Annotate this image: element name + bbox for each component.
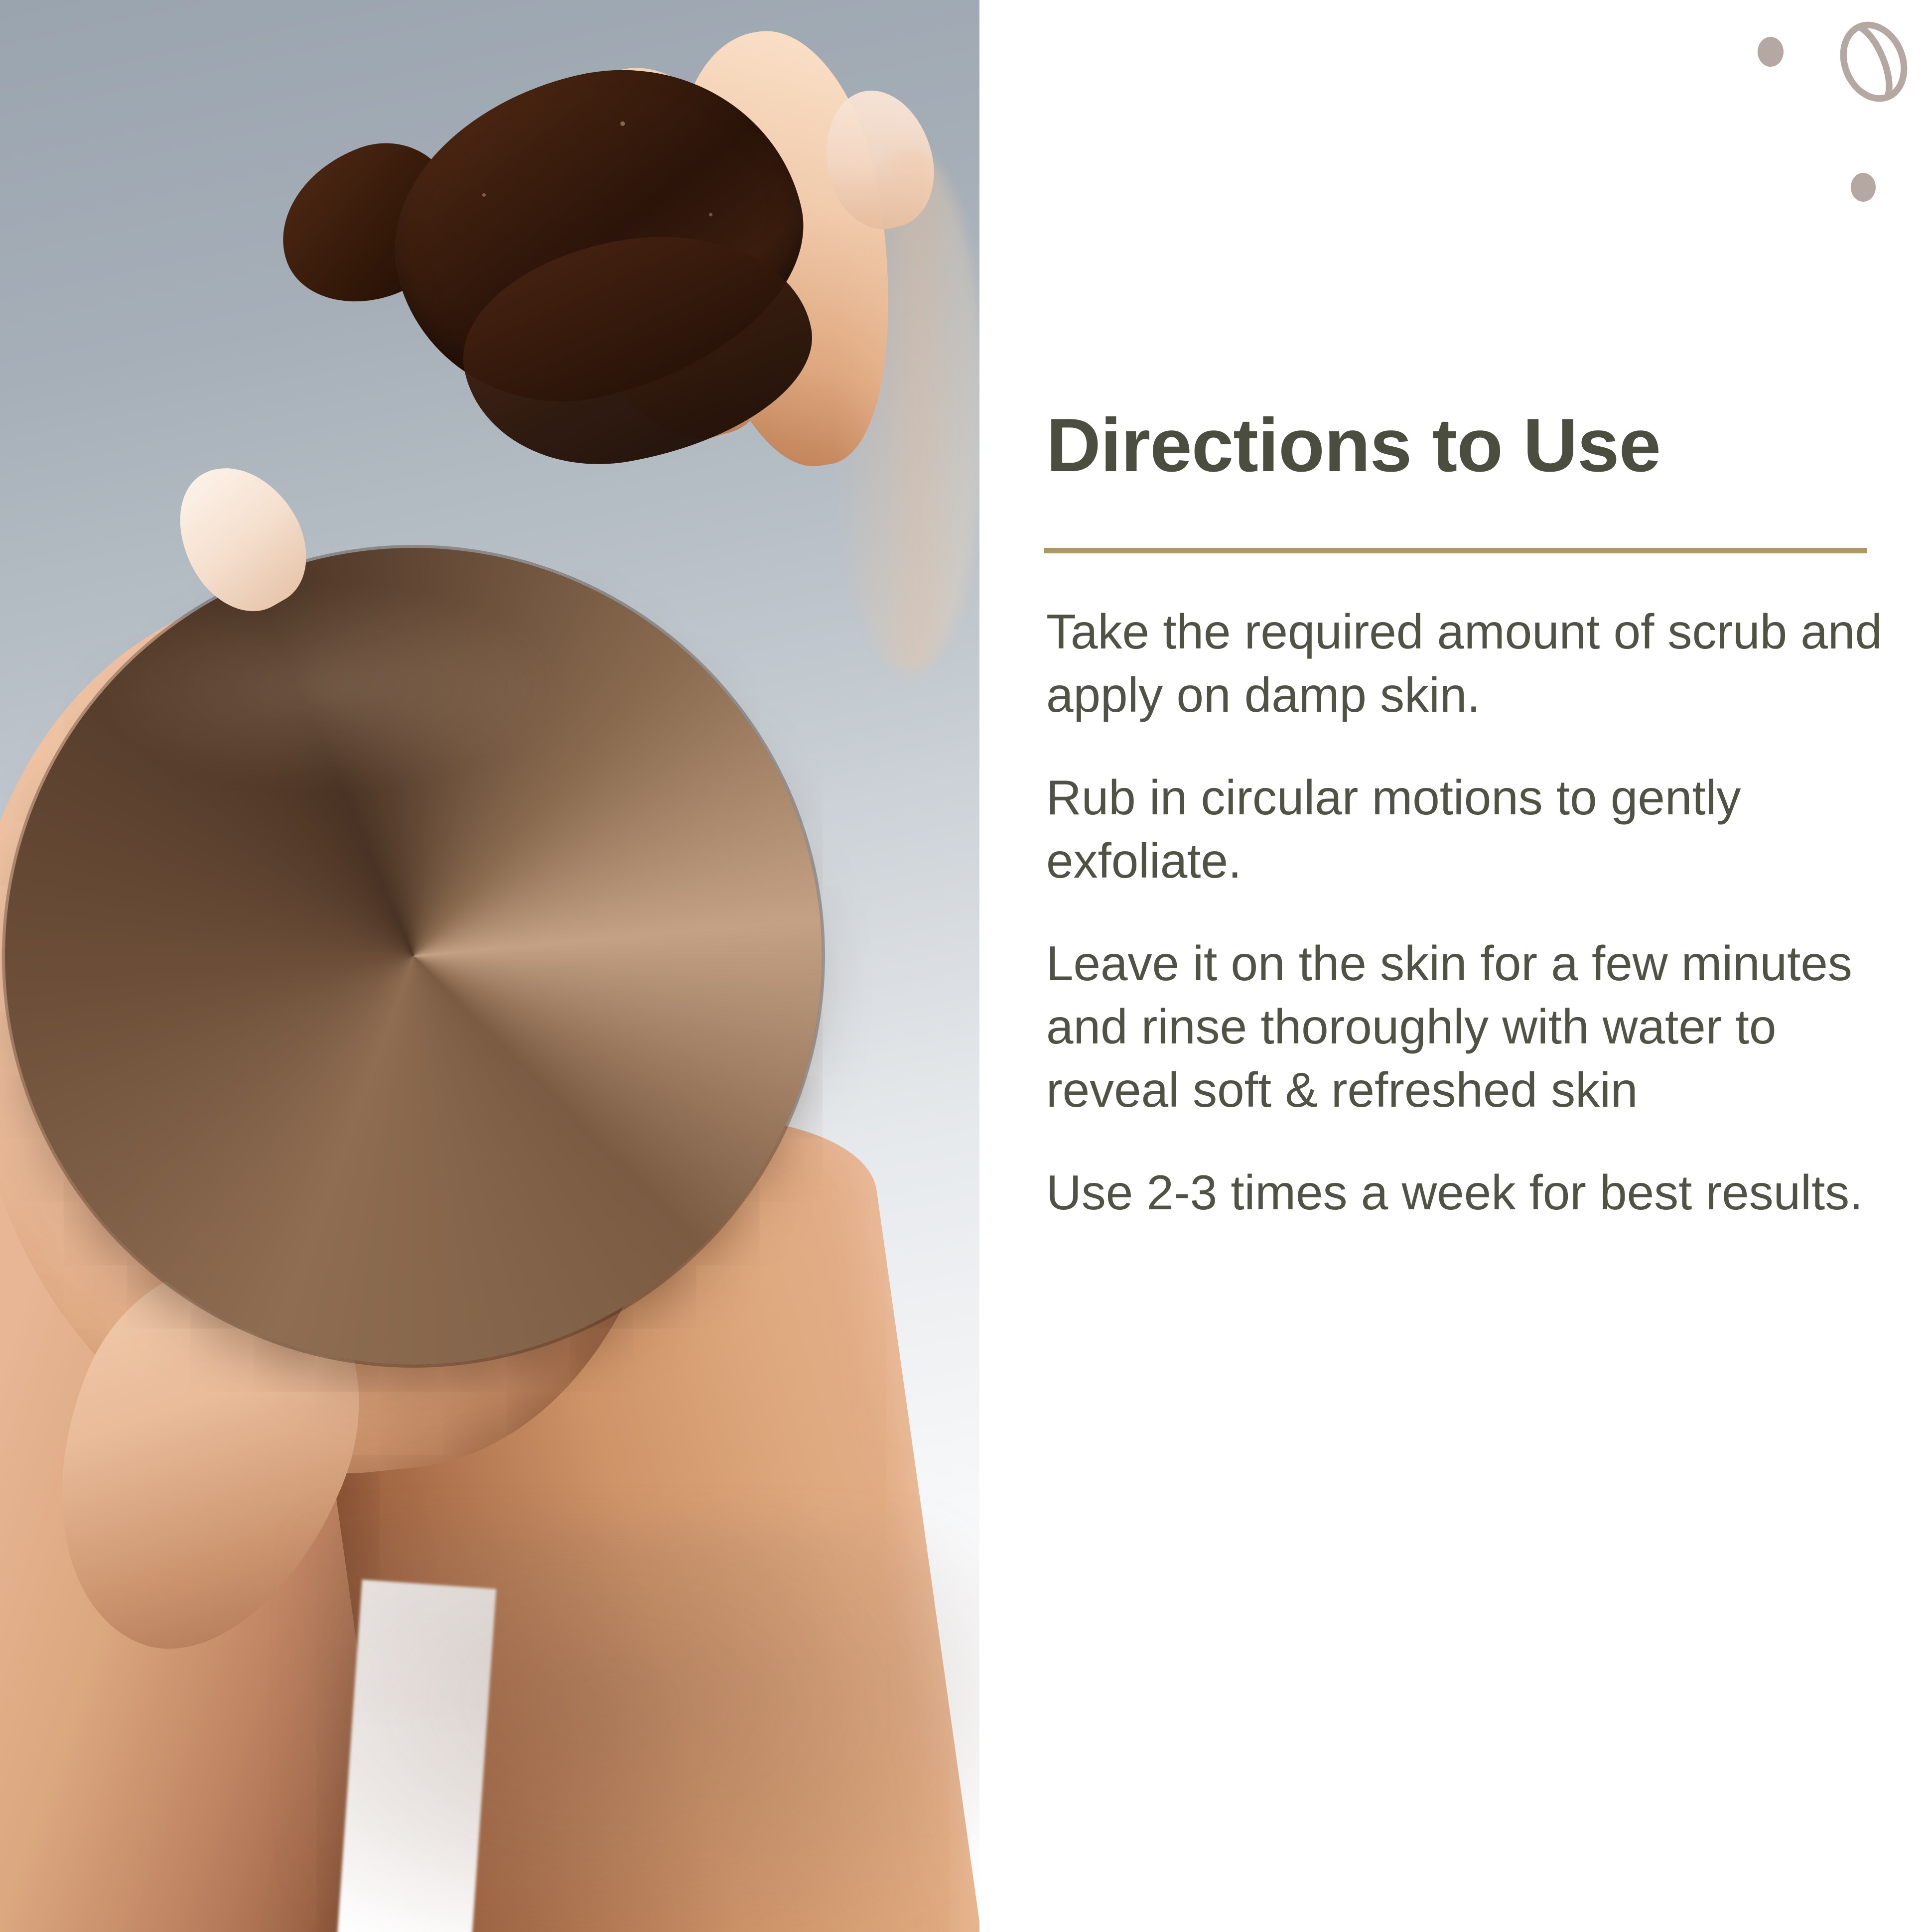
directions-panel: Directions to Use Take the required amou…: [979, 0, 1932, 1932]
decorative-dot-icon: [1851, 173, 1876, 202]
jar-glass-edge: [835, 149, 979, 672]
scrub-jar: [5, 548, 822, 1365]
product-photo: [0, 0, 979, 1932]
page-title: Directions to Use: [1046, 406, 1873, 486]
direction-step: Leave it on the skin for a few minutes a…: [1046, 932, 1883, 1122]
direction-step: Take the required amount of scrub and ap…: [1046, 600, 1883, 727]
title-divider: [1044, 548, 1867, 553]
direction-step: Rub in circular motions to gently exfoli…: [1046, 766, 1883, 893]
photo-shadow: [309, 1524, 979, 1932]
directions-list: Take the required amount of scrub and ap…: [1046, 600, 1883, 1224]
direction-step: Use 2-3 times a week for best results.: [1046, 1161, 1883, 1224]
jar-highlight: [90, 583, 563, 792]
coffee-bean-icon: [1832, 19, 1915, 105]
slide-canvas: Directions to Use Take the required amou…: [0, 0, 1932, 1932]
decorative-dot-icon: [1758, 37, 1784, 67]
